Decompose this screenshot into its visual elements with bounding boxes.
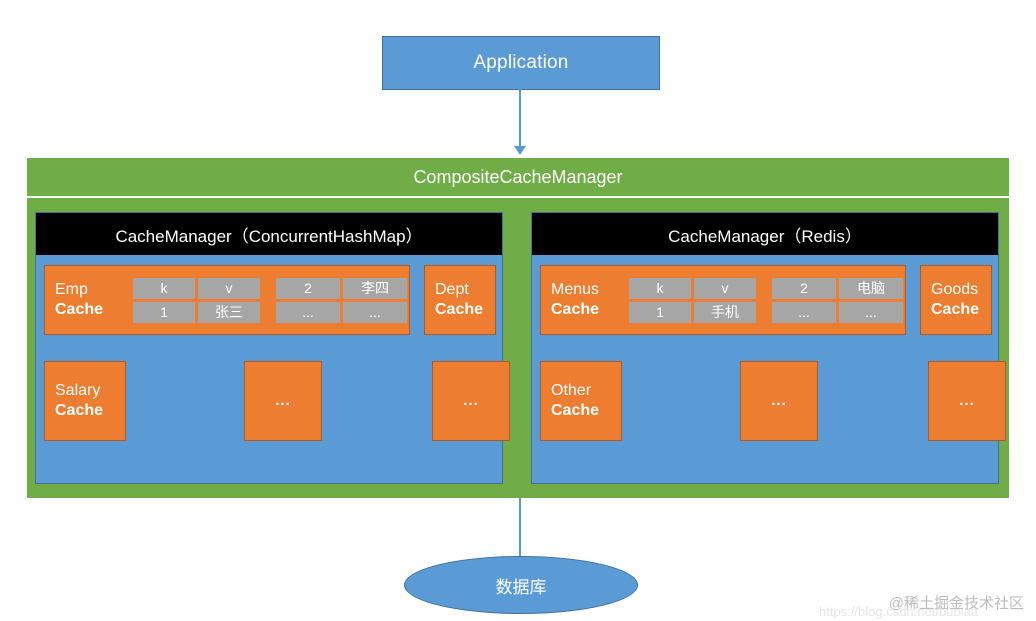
menus-cache-kv-table-2: 2 电脑 ... ...: [772, 278, 903, 323]
kv-cell: ...: [343, 302, 407, 323]
menus-cache-label-line2: Cache: [551, 300, 629, 320]
cache-manager-header-label: CacheManager（Redis）: [668, 222, 862, 247]
cache-manager-header-label: CacheManager（ConcurrentHashMap）: [115, 222, 422, 247]
arrow-composite-to-database-line: [519, 498, 521, 558]
composite-cache-manager-title-bar: CompositeCacheManager: [27, 158, 1009, 198]
goods-cache-box: Goods Cache: [920, 265, 992, 335]
dept-cache-label-line1: Dept: [435, 280, 469, 300]
right-placeholder-cache-box-right: ...: [928, 361, 1006, 441]
emp-cache-label-line1: Emp: [55, 280, 133, 300]
cache-manager-header-redis: CacheManager（Redis）: [532, 213, 998, 255]
table-row: k v: [133, 278, 260, 299]
dept-cache-box: Dept Cache: [424, 265, 496, 335]
menus-cache-kv-table-1: k v 1 手机: [629, 278, 756, 323]
emp-cache-kv-table-1: k v 1 张三: [133, 278, 260, 323]
table-row: k v: [629, 278, 756, 299]
menus-cache-box: Menus Cache k v 1 手机: [540, 265, 906, 335]
emp-cache-kv-table-2: 2 李四 ... ...: [276, 278, 407, 323]
right-placeholder-label-right: ...: [959, 392, 975, 411]
kv-cell: v: [198, 278, 260, 299]
table-row: ... ...: [772, 302, 903, 323]
kv-cell: k: [629, 278, 691, 299]
kv-cell: 1: [133, 302, 195, 323]
application-box: Application: [382, 36, 660, 90]
table-row: 1 张三: [133, 302, 260, 323]
emp-cache-kv-tables: k v 1 张三 2 李四: [133, 278, 407, 323]
right-placeholder-cache-box-mid: ...: [740, 361, 818, 441]
left-placeholder-label-right: ...: [463, 392, 479, 411]
composite-cache-manager-title: CompositeCacheManager: [413, 167, 622, 188]
kv-cell: 2: [772, 278, 836, 299]
kv-cell: ...: [772, 302, 836, 323]
salary-cache-box: Salary Cache: [44, 361, 126, 441]
cache-manager-header-concurrenthashmap: CacheManager（ConcurrentHashMap）: [36, 213, 502, 255]
left-placeholder-label-mid: ...: [275, 392, 291, 411]
menus-cache-label-line1: Menus: [551, 280, 629, 300]
goods-cache-label-line1: Goods: [931, 280, 978, 300]
composite-cache-manager-container: CompositeCacheManager CacheManager（Concu…: [27, 158, 1009, 498]
other-cache-label-line2: Cache: [551, 401, 599, 421]
kv-cell: 李四: [343, 278, 407, 299]
table-row: ... ...: [276, 302, 407, 323]
kv-cell: k: [133, 278, 195, 299]
salary-cache-label-line1: Salary: [55, 381, 100, 401]
kv-cell: 张三: [198, 302, 260, 323]
emp-cache-box: Emp Cache k v 1 张三: [44, 265, 410, 335]
kv-cell: v: [694, 278, 756, 299]
database-ellipse: 数据库: [404, 556, 638, 614]
kv-cell: ...: [276, 302, 340, 323]
kv-cell: ...: [839, 302, 903, 323]
arrow-application-to-composite-head: [514, 146, 526, 155]
table-row: 2 李四: [276, 278, 407, 299]
emp-cache-label-line2: Cache: [55, 300, 133, 320]
cache-manager-panel-redis: CacheManager（Redis） Menus Cache k v: [531, 212, 999, 484]
other-cache-box: Other Cache: [540, 361, 622, 441]
cache-row-2-left: Salary Cache ... ...: [36, 361, 502, 441]
table-row: 1 手机: [629, 302, 756, 323]
cache-row-1-right: Menus Cache k v 1 手机: [532, 265, 998, 345]
salary-cache-label-line2: Cache: [55, 401, 103, 421]
watermark-handle: @稀土掘金技术社区: [889, 592, 1024, 613]
left-placeholder-cache-box-mid: ...: [244, 361, 322, 441]
arrow-application-to-composite-line: [519, 88, 521, 146]
kv-cell: 手机: [694, 302, 756, 323]
menus-cache-label: Menus Cache: [541, 280, 629, 320]
database-label: 数据库: [496, 573, 547, 598]
right-placeholder-label-mid: ...: [771, 392, 787, 411]
emp-cache-label: Emp Cache: [45, 280, 133, 320]
cache-manager-panel-concurrenthashmap: CacheManager（ConcurrentHashMap） Emp Cach…: [35, 212, 503, 484]
kv-cell: 电脑: [839, 278, 903, 299]
table-row: 2 电脑: [772, 278, 903, 299]
diagram-canvas: Application CompositeCacheManager CacheM…: [0, 0, 1036, 621]
menus-cache-kv-tables: k v 1 手机 2 电脑: [629, 278, 903, 323]
kv-cell: 2: [276, 278, 340, 299]
left-placeholder-cache-box-right: ...: [432, 361, 510, 441]
dept-cache-label-line2: Cache: [435, 300, 483, 320]
application-label: Application: [473, 52, 568, 74]
goods-cache-label-line2: Cache: [931, 300, 979, 320]
other-cache-label-line1: Other: [551, 381, 591, 401]
kv-cell: 1: [629, 302, 691, 323]
cache-row-1-left: Emp Cache k v 1 张三: [36, 265, 502, 345]
cache-row-2-right: Other Cache ... ...: [532, 361, 998, 441]
